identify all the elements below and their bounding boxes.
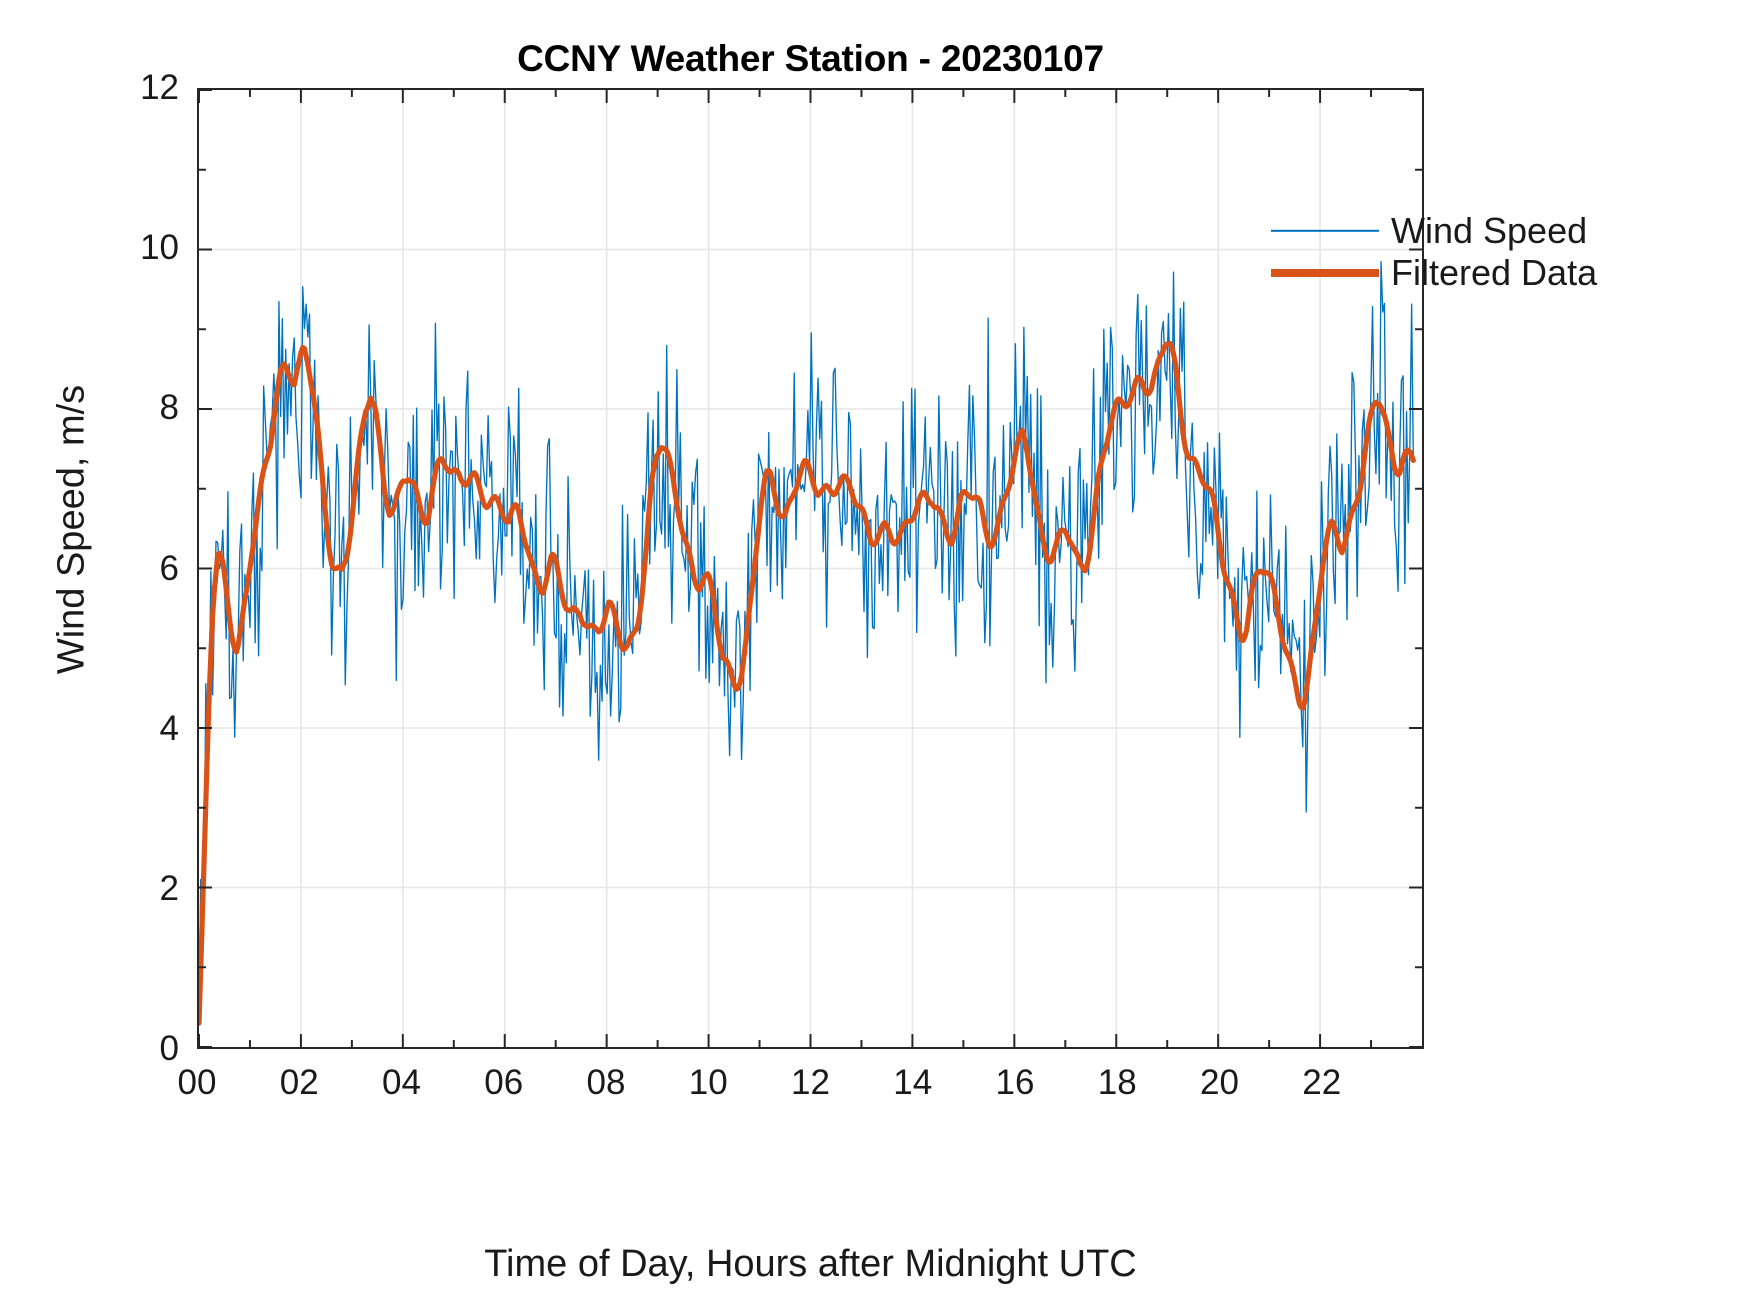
legend-line-icon [1271,262,1379,284]
legend-label: Wind Speed [1379,210,1587,252]
x-tick-label: 22 [1262,1065,1382,1100]
legend-line-icon [1271,220,1379,242]
legend: Wind SpeedFiltered Data [1271,210,1611,294]
x-axis-title: Time of Day, Hours after Midnight UTC [197,1243,1424,1286]
legend-item-raw[interactable]: Wind Speed [1271,210,1611,252]
figure-canvas: CCNY Weather Station - 20230107 Wind Spe… [0,0,1750,1313]
page-title: CCNY Weather Station - 20230107 [197,38,1424,80]
y-tick-label: 0 [29,1031,179,1066]
y-tick-label: 12 [29,70,179,105]
legend-label: Filtered Data [1379,252,1597,294]
plot-area[interactable]: Wind SpeedFiltered Data [197,88,1424,1049]
legend-item-filtered[interactable]: Filtered Data [1271,252,1611,294]
y-axis-title: Wind Speed, m/s [51,180,94,880]
tick-marks [199,90,1422,1047]
